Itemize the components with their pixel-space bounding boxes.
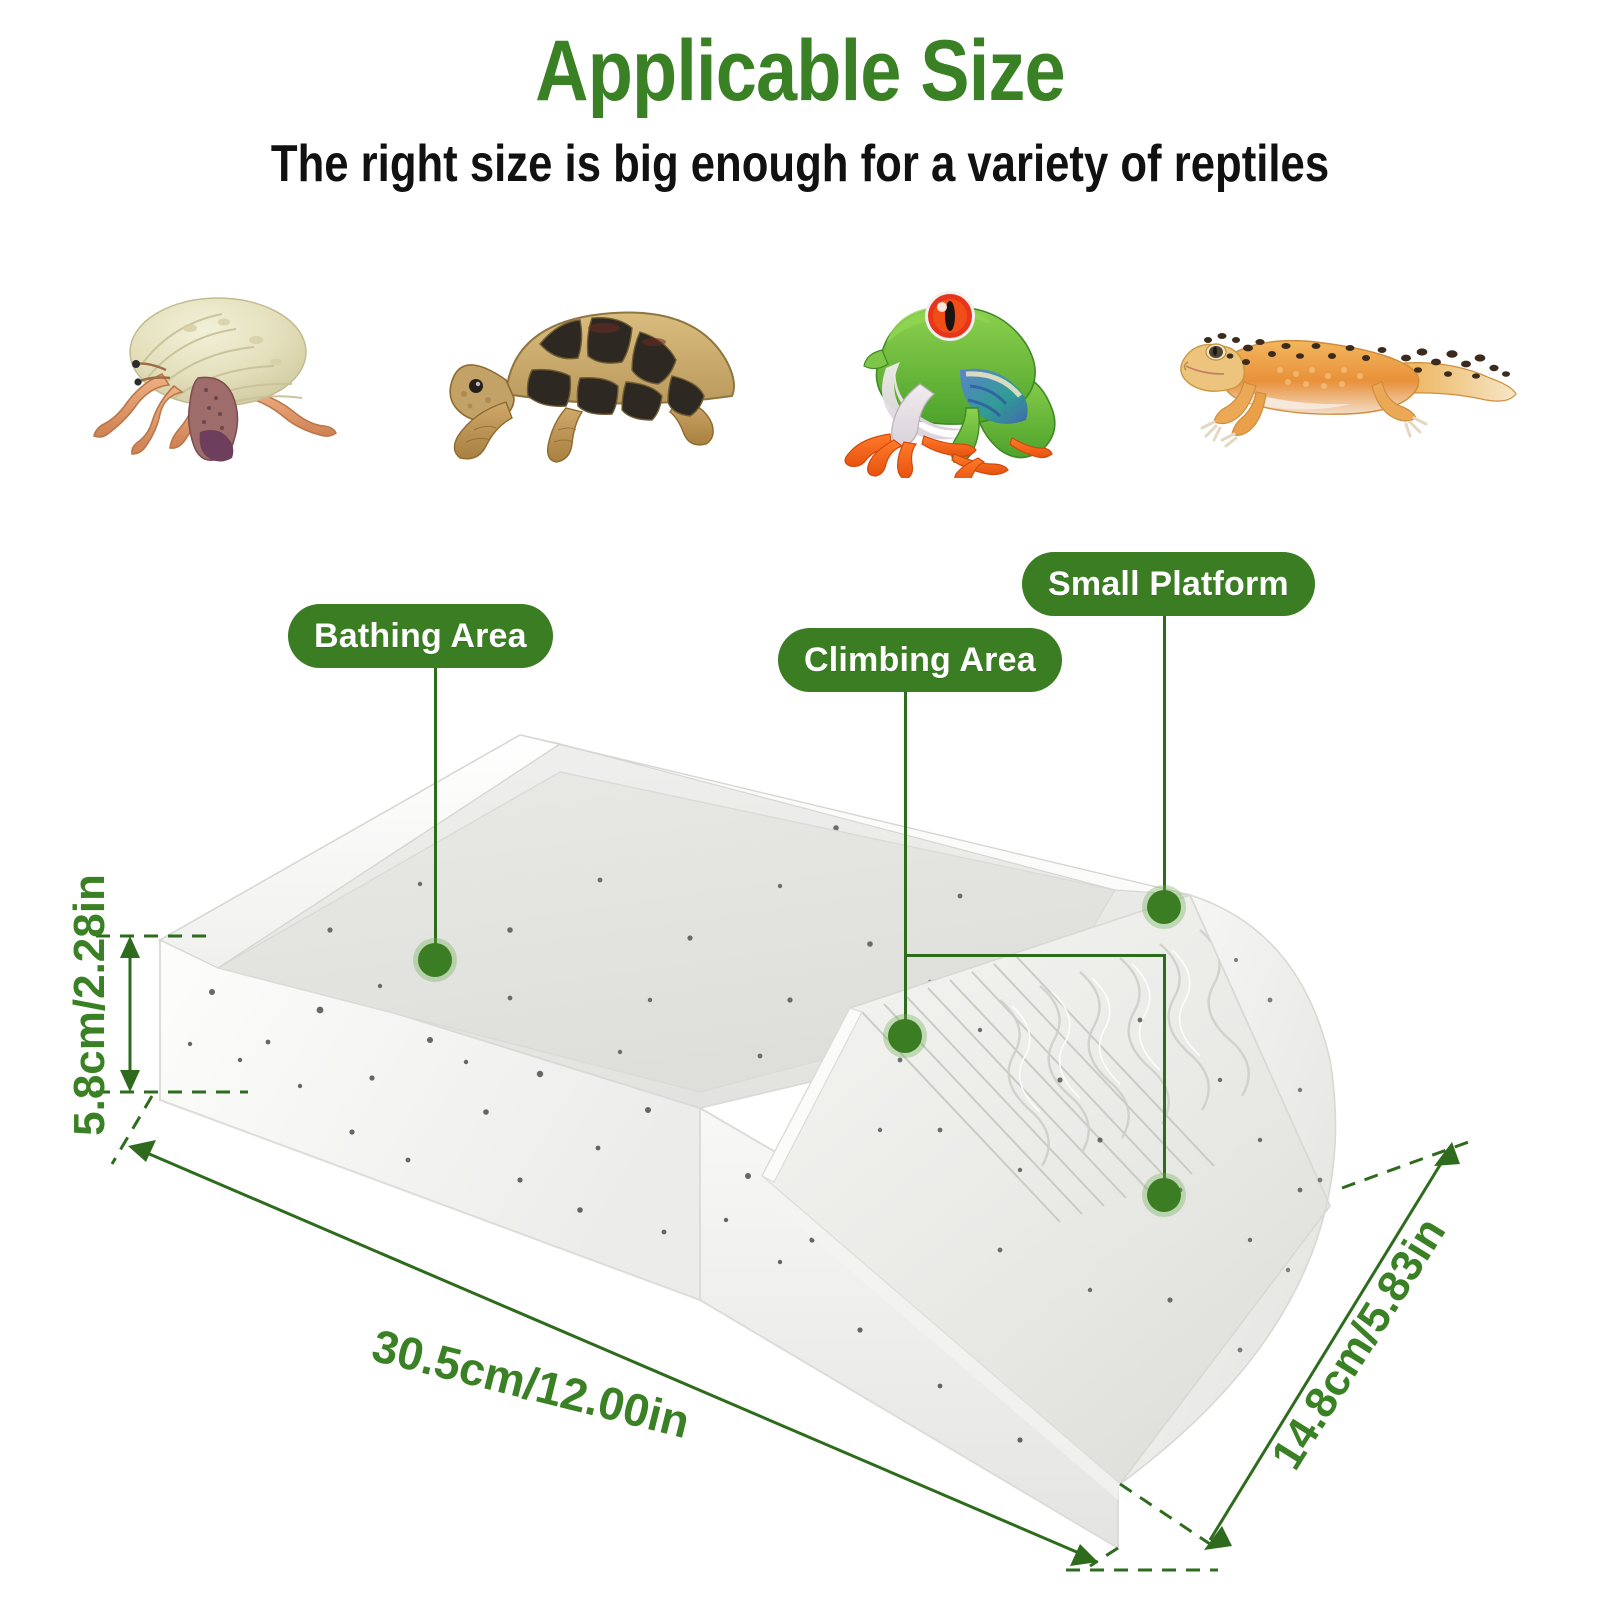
connector-climbing-line [904, 692, 907, 1042]
connector-bathing-line [434, 668, 437, 964]
connector-platform-line [1163, 616, 1166, 916]
infographic-canvas: Applicable Size The right size is big en… [0, 0, 1600, 1600]
connector-elbow-dot [1147, 1178, 1181, 1212]
connector-bathing-dot [418, 943, 452, 977]
connector-climbing-dot [888, 1019, 922, 1053]
callout-badge-small-platform[interactable]: Small Platform [1022, 552, 1315, 616]
connector-platform-dot [1147, 890, 1181, 924]
callout-badge-bathing-area[interactable]: Bathing Area [288, 604, 553, 668]
connector-elbow-horizontal [904, 954, 1166, 957]
dimension-label-height: 5.8cm/2.28in [65, 855, 115, 1155]
connector-elbow-vertical [1163, 954, 1166, 1196]
callout-badge-climbing-area[interactable]: Climbing Area [778, 628, 1062, 692]
